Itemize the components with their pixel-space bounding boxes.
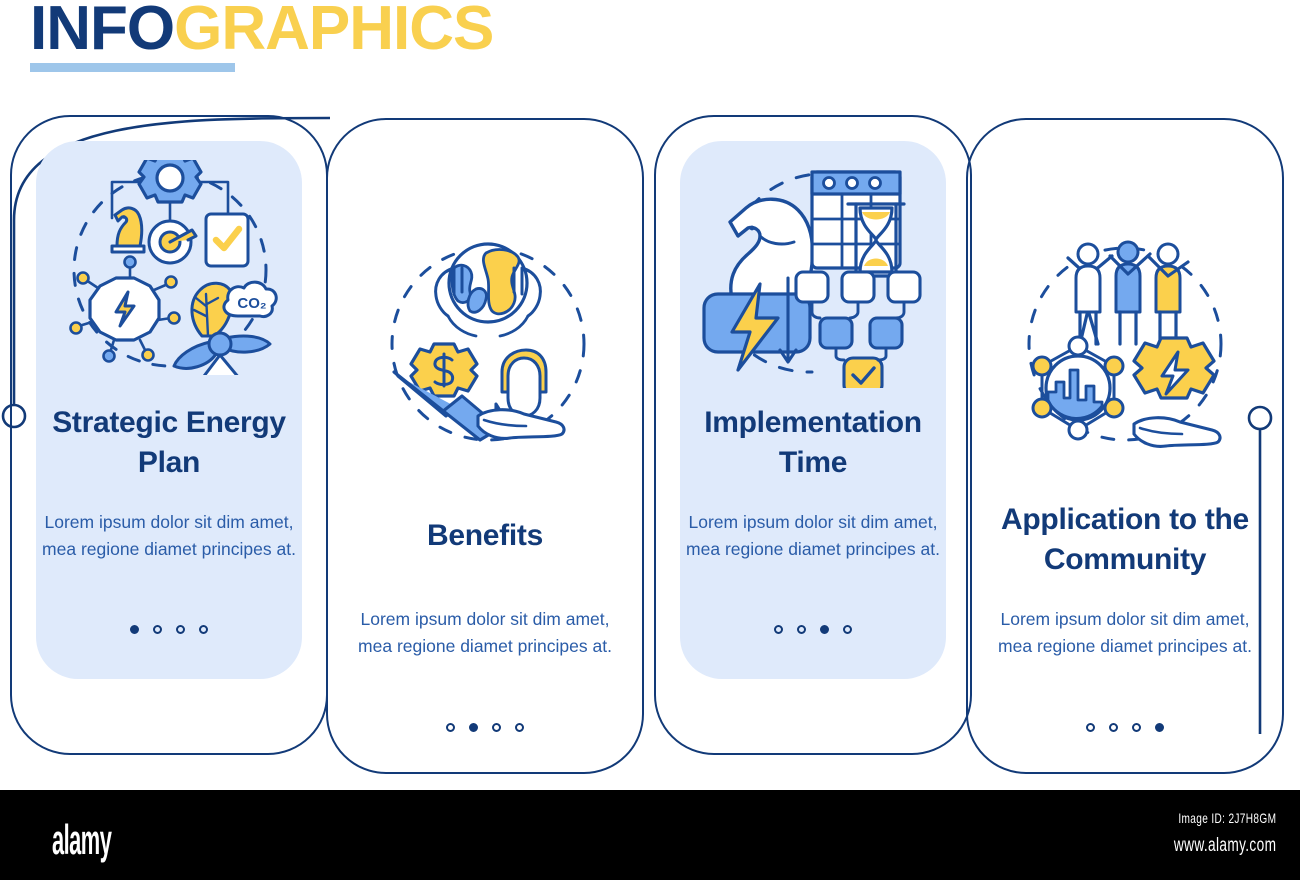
pagination-dot-3[interactable] [1132,723,1141,732]
card-strategic-energy-plan[interactable]: CO₂ Strategic Energy Plan Lorem ipsum do… [10,115,328,755]
pagination-dots[interactable] [10,625,328,634]
alamy-logo: alamy [52,816,111,864]
pagination-dot-3[interactable] [820,625,829,634]
knight-schedule-flowchart-icon [692,160,928,388]
watermark-url: www.alamy.com [1174,835,1276,857]
community-network-energy-icon [1016,228,1234,460]
card-body: Lorem ipsum dolor sit dim amet, mea regi… [988,606,1262,659]
pagination-dot-2[interactable] [1109,723,1118,732]
pagination-dot-4[interactable] [843,625,852,634]
pagination-dot-3[interactable] [492,723,501,732]
pagination-dot-1[interactable] [446,723,455,732]
title-underline-bar [30,63,235,72]
watermark-image-id: Image ID: 2J7H8GM [1174,810,1276,826]
card-title: Benefits [339,516,632,556]
page-title: INFOGRAPHICS [30,0,493,61]
strategy-gear-energy-icon: CO₂ [62,160,278,375]
pagination-dot-2[interactable] [153,625,162,634]
card-title: Application to the Community [979,500,1272,580]
pagination-dots[interactable] [326,723,644,732]
page-title-part-1: INFO [30,0,174,63]
pagination-dot-2[interactable] [469,723,478,732]
globe-savings-people-icon [384,228,592,460]
pagination-dot-4[interactable] [199,625,208,634]
page-title-part-2: GRAPHICS [174,0,493,63]
pagination-dot-2[interactable] [797,625,806,634]
watermark-meta: Image ID: 2J7H8GM www.alamy.com [1134,810,1276,857]
card-benefits[interactable]: Benefits Lorem ipsum dolor sit dim amet,… [326,118,644,774]
pagination-dot-4[interactable] [515,723,524,732]
pagination-dot-1[interactable] [1086,723,1095,732]
infographic-canvas: INFOGRAPHICS [0,0,1300,880]
pagination-dot-4[interactable] [1155,723,1164,732]
card-body: Lorem ipsum dolor sit dim amet, mea regi… [676,509,950,562]
card-implementation-time[interactable]: Implementation Time Lorem ipsum dolor si… [654,115,972,755]
pagination-dots[interactable] [966,723,1284,732]
pagination-dot-1[interactable] [774,625,783,634]
svg-text:CO₂: CO₂ [237,295,266,312]
pagination-dot-3[interactable] [176,625,185,634]
pagination-dots[interactable] [654,625,972,634]
card-title: Implementation Time [667,403,960,483]
watermark-bar: alamy Image ID: 2J7H8GM www.alamy.com [0,790,1300,880]
pagination-dot-1[interactable] [130,625,139,634]
card-application-to-the-community[interactable]: Application to the Community Lorem ipsum… [966,118,1284,774]
card-body: Lorem ipsum dolor sit dim amet, mea regi… [32,509,306,562]
card-body: Lorem ipsum dolor sit dim amet, mea regi… [348,606,622,659]
card-title: Strategic Energy Plan [23,403,316,483]
